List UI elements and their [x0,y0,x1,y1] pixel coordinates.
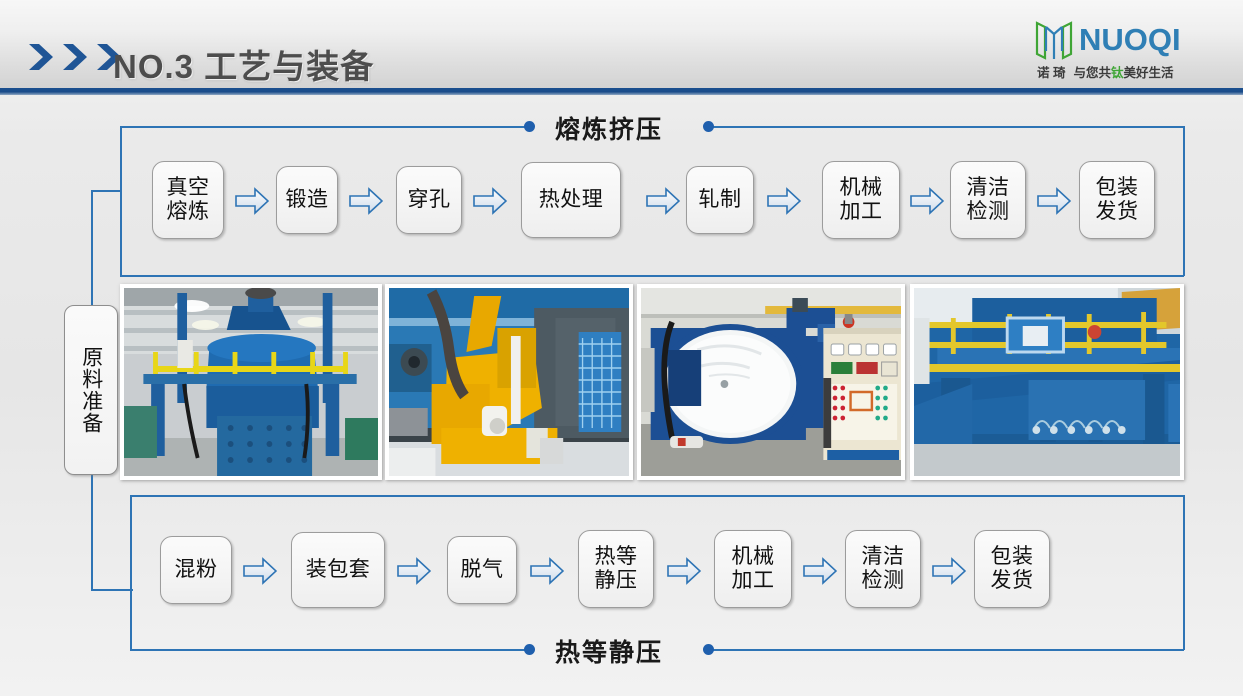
block-arrow-right-icon [397,556,431,586]
open-book-logo-icon [1035,20,1073,60]
top-band-dot-left [524,121,535,132]
step-bottom-7[interactable]: 包装 发货 [974,530,1050,608]
logo-tagline-highlight: 钛 [1111,66,1124,80]
bottom-frame-line-left [130,649,530,651]
step-bottom-4[interactable]: 热等 静压 [578,530,654,608]
photo-vacuum-heat-treatment-furnace [637,284,905,480]
bottom-band-dot-right [703,644,714,655]
top-frame-line-east [1183,126,1185,276]
logo-tagline: 诺 琦与您共钛美好生活 [1037,62,1221,81]
block-arrow-right-icon [646,186,680,216]
top-band-title: 熔炼挤压 [555,110,663,146]
step-bottom-5[interactable]: 机械 加工 [714,530,792,608]
bottom-frame-line-north [130,495,1184,497]
top-frame-line-south [120,275,1184,277]
bottom-frame-line-east [1183,495,1185,650]
chevron-right-icon [60,40,94,74]
block-arrow-right-icon [530,556,564,586]
step-bottom-1[interactable]: 混粉 [160,536,232,604]
chevron-right-icon [26,40,60,74]
step-bottom-6[interactable]: 清洁 检测 [845,530,921,608]
block-arrow-right-icon [667,556,701,586]
top-frame-line-west [120,126,122,276]
top-frame-line-right [708,126,1184,128]
top-frame-line-left [120,126,530,128]
logo-tagline-part1: 诺 琦 [1037,66,1065,80]
step-top-7[interactable]: 清洁 检测 [950,161,1026,239]
block-arrow-right-icon [243,556,277,586]
step-top-4[interactable]: 热处理 [521,162,621,238]
step-top-6[interactable]: 机械 加工 [822,161,900,239]
raw-connector-down-horizontal [91,589,133,591]
photo-vacuum-melting-furnace [120,284,382,480]
photo-extrusion-press [385,284,633,480]
logo-tagline-part3: 美好生活 [1124,66,1174,80]
top-band-dot-right [703,121,714,132]
raw-material-label: 原料准备 [78,346,104,434]
logo-wordmark: NUOQI [1079,22,1181,58]
step-bottom-2[interactable]: 装包套 [291,532,385,608]
step-top-5[interactable]: 轧制 [686,166,754,234]
block-arrow-right-icon [767,186,801,216]
header-divider [0,88,1243,95]
raw-connector-up-horizontal [91,190,121,192]
step-top-3[interactable]: 穿孔 [396,166,462,234]
step-top-8[interactable]: 包装 发货 [1079,161,1155,239]
page-title: NO.3 工艺与装备 [113,40,374,88]
block-arrow-right-icon [932,556,966,586]
bottom-band-title: 热等静压 [555,633,663,669]
photo-hip-equipment [910,284,1184,480]
step-top-1[interactable]: 真空 熔炼 [152,161,224,239]
block-arrow-right-icon [803,556,837,586]
block-arrow-right-icon [910,186,944,216]
block-arrow-right-icon [235,186,269,216]
block-arrow-right-icon [1037,186,1071,216]
block-arrow-right-icon [473,186,507,216]
bottom-frame-line-right [708,649,1184,651]
step-top-2[interactable]: 锻造 [276,166,338,234]
block-arrow-right-icon [349,186,383,216]
brand-logo: NUOQI 诺 琦与您共钛美好生活 [1035,18,1221,84]
bottom-frame-line-west [130,495,132,650]
step-bottom-3[interactable]: 脱气 [447,536,517,604]
logo-tagline-part2: 与您共 [1073,66,1111,80]
bottom-band-dot-left [524,644,535,655]
raw-connector-down-vertical [91,475,93,590]
raw-material-box[interactable]: 原料准备 [64,305,118,475]
raw-connector-up-vertical [91,190,93,305]
